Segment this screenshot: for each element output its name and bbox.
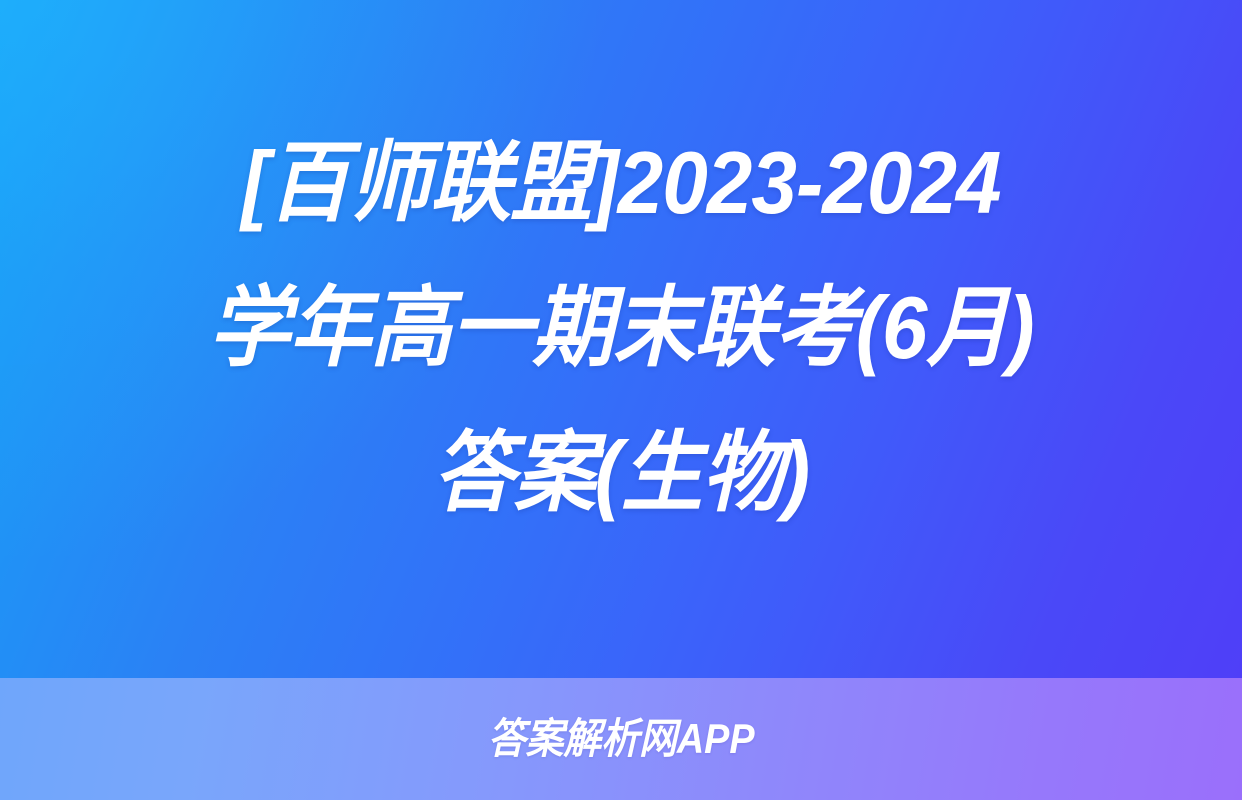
app-brand-label: 答案解析网APP bbox=[488, 718, 755, 760]
poster-title-block: [百师联盟]2023-2024 学年高一期末联考(6月) 答案(生物) bbox=[0, 0, 1242, 678]
answer-cover-poster: [百师联盟]2023-2024 学年高一期末联考(6月) 答案(生物) 答案解析… bbox=[0, 0, 1242, 800]
footer-brand-band: 答案解析网APP bbox=[0, 678, 1242, 800]
page-title-line-2: 学年高一期末联考(6月) bbox=[43, 255, 1198, 400]
page-title-line-3: 答案(生物) bbox=[43, 400, 1198, 545]
page-title-line-1: [百师联盟]2023-2024 bbox=[43, 110, 1198, 255]
